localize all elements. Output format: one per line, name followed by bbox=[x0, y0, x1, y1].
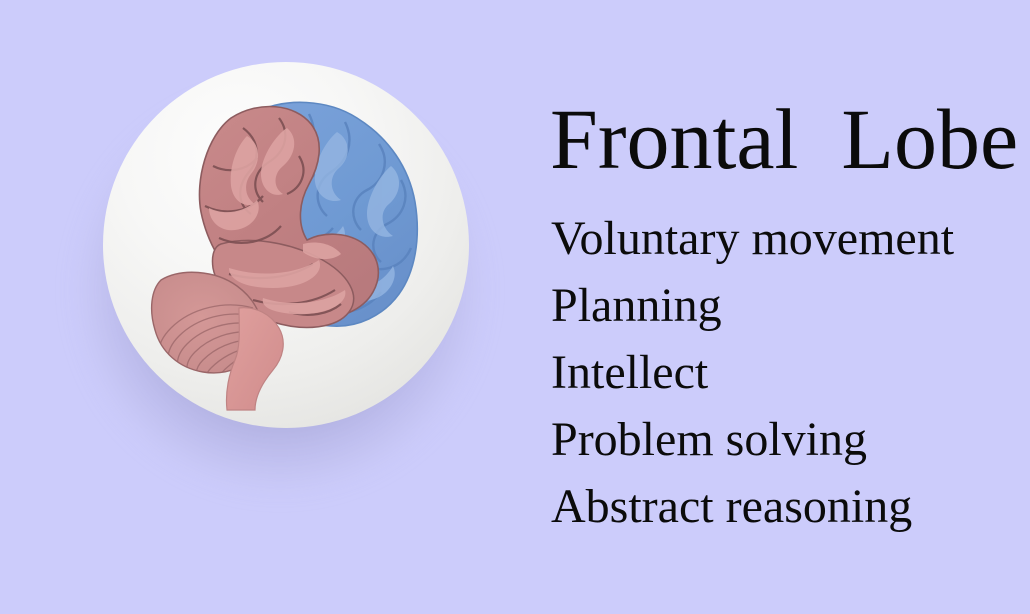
brain-diagram-icon bbox=[103, 62, 469, 428]
page-title: Frontal Lobe bbox=[550, 96, 1018, 182]
function-list: Voluntary movement Planning Intellect Pr… bbox=[551, 205, 954, 540]
list-item: Intellect bbox=[551, 339, 954, 406]
list-item: Problem solving bbox=[551, 406, 954, 473]
list-item: Abstract reasoning bbox=[551, 473, 954, 540]
brain-illustration bbox=[62, 30, 512, 470]
slide-canvas: Frontal Lobe Voluntary movement Planning… bbox=[0, 0, 1030, 614]
text-panel: Frontal Lobe Voluntary movement Planning… bbox=[548, 0, 1030, 614]
list-item: Voluntary movement bbox=[551, 205, 954, 272]
list-item: Planning bbox=[551, 272, 954, 339]
